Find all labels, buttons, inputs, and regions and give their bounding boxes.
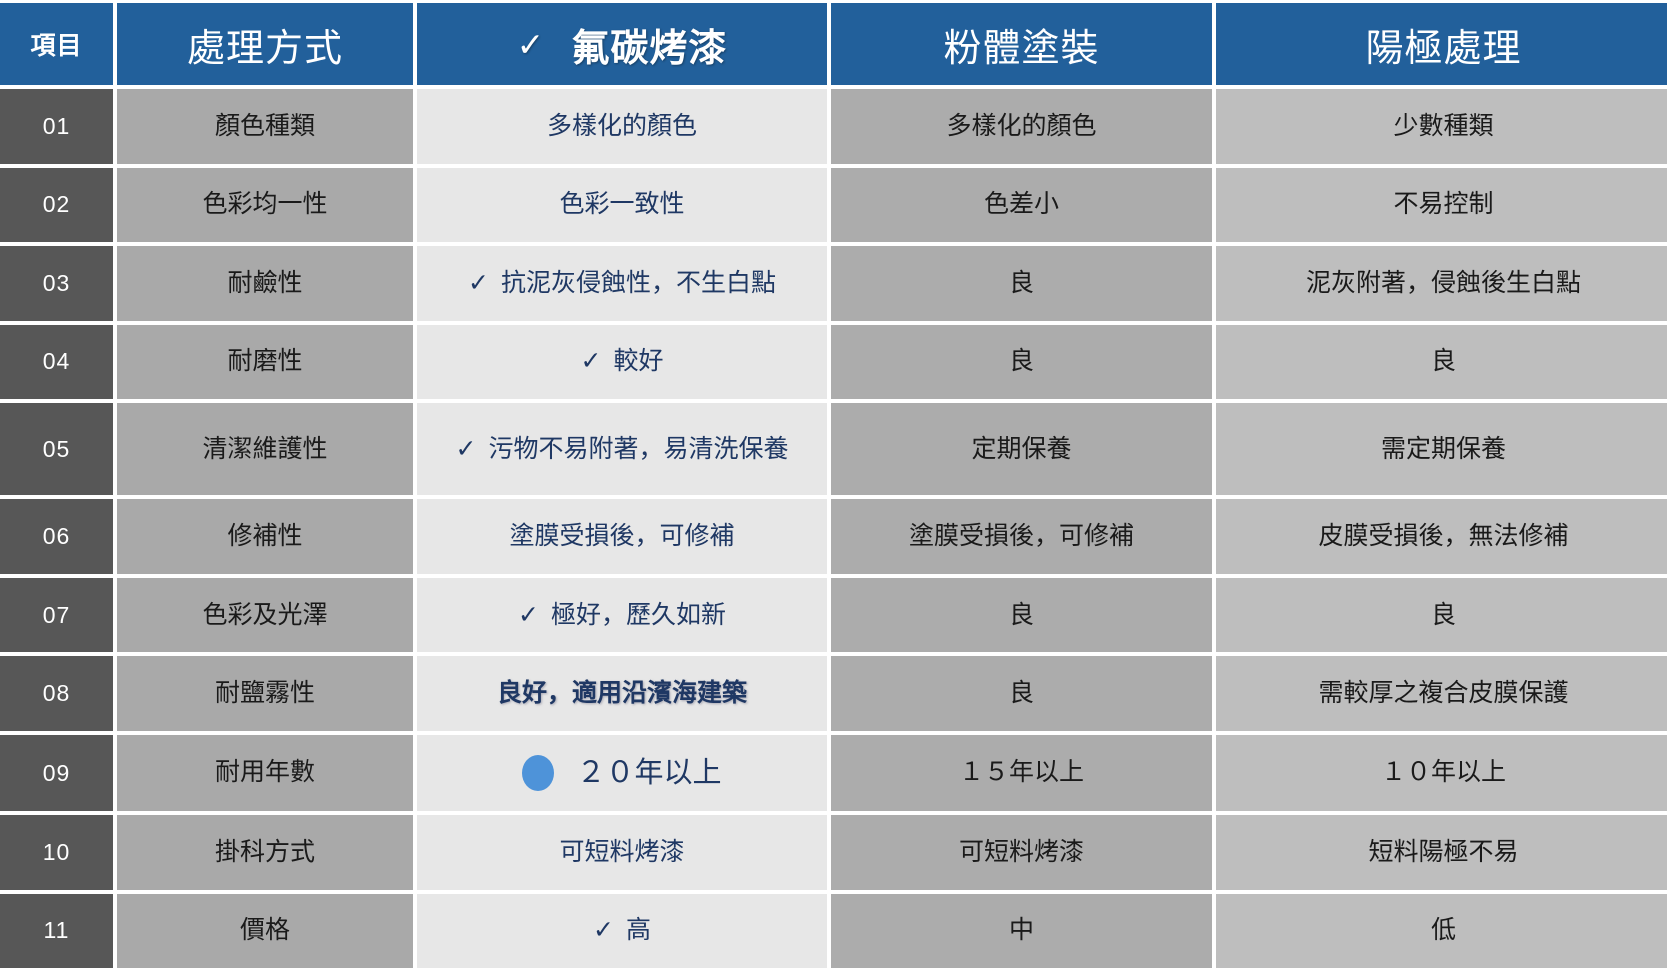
- row-powder-cell: 中: [831, 894, 1212, 968]
- row-index-cell: 08: [0, 656, 113, 731]
- row-powder-cell: 定期保養: [831, 403, 1212, 495]
- cell-text: 抗泥灰侵蝕性，不生白點: [501, 268, 776, 299]
- check-icon: ✓: [468, 268, 489, 299]
- table-row: 05清潔維護性✓污物不易附著，易清洗保養定期保養需定期保養: [0, 403, 1667, 495]
- row-attribute-cell: 修補性: [117, 499, 413, 574]
- table-row: 10掛科方式可短料烤漆可短料烤漆短料陽極不易: [0, 815, 1667, 890]
- row-attribute-cell: 耐鹼性: [117, 246, 413, 321]
- cell-content: ✓污物不易附著，易清洗保養: [456, 434, 789, 465]
- row-powder-cell: 色差小: [831, 168, 1212, 243]
- row-fluorocarbon-cell: 多樣化的顏色: [417, 89, 827, 164]
- cell-text: 極好，歷久如新: [551, 600, 726, 631]
- bullet-circle-icon: [522, 755, 554, 791]
- row-fluorocarbon-cell: 塗膜受損後，可修補: [417, 499, 827, 574]
- row-index-cell: 02: [0, 168, 113, 243]
- row-fluorocarbon-cell: ✓抗泥灰侵蝕性，不生白點: [417, 246, 827, 321]
- cell-content: 色彩一致性: [559, 189, 684, 220]
- row-attribute-cell: 色彩均一性: [117, 168, 413, 243]
- row-fluorocarbon-cell: ✓極好，歷久如新: [417, 578, 827, 653]
- row-fluorocarbon-cell: 可短料烤漆: [417, 815, 827, 890]
- row-powder-cell: １５年以上: [831, 735, 1212, 811]
- row-fluorocarbon-cell: ✓較好: [417, 325, 827, 400]
- table-body: 01顏色種類多樣化的顏色多樣化的顏色少數種類02色彩均一性色彩一致性色差小不易控…: [0, 85, 1667, 968]
- cell-content: 塗膜受損後，可修補: [509, 521, 734, 552]
- row-anodize-cell: 需定期保養: [1216, 403, 1667, 495]
- row-fluorocarbon-cell: ２０年以上: [417, 735, 827, 811]
- check-icon: ✓: [456, 434, 477, 465]
- check-icon: ✓: [517, 25, 546, 64]
- row-powder-cell: 良: [831, 246, 1212, 321]
- table-row: 09耐用年數２０年以上１５年以上１０年以上: [0, 735, 1667, 811]
- row-index-cell: 01: [0, 89, 113, 164]
- row-anodize-cell: 良: [1216, 325, 1667, 400]
- cell-content: 良好，適用沿濱海建築: [497, 678, 747, 709]
- cell-text: 可短料烤漆: [559, 837, 684, 868]
- row-attribute-cell: 價格: [117, 894, 413, 968]
- header-cell-fluorocarbon: ✓ 氟碳烤漆: [417, 3, 827, 85]
- row-index-cell: 06: [0, 499, 113, 574]
- cell-content: ✓高: [593, 915, 651, 946]
- row-index-cell: 04: [0, 325, 113, 400]
- header-index-label: 項目: [30, 26, 82, 62]
- cell-content: 可短料烤漆: [559, 837, 684, 868]
- check-icon: ✓: [581, 346, 602, 377]
- table-row: 02色彩均一性色彩一致性色差小不易控制: [0, 168, 1667, 243]
- row-anodize-cell: １０年以上: [1216, 735, 1667, 811]
- row-anodize-cell: 短料陽極不易: [1216, 815, 1667, 890]
- row-anodize-cell: 皮膜受損後，無法修補: [1216, 499, 1667, 574]
- cell-text: 較好: [613, 346, 663, 377]
- row-fluorocarbon-cell: 色彩一致性: [417, 168, 827, 243]
- table-row: 01顏色種類多樣化的顏色多樣化的顏色少數種類: [0, 89, 1667, 164]
- table-row: 06修補性塗膜受損後，可修補塗膜受損後，可修補皮膜受損後，無法修補: [0, 499, 1667, 574]
- row-powder-cell: 良: [831, 578, 1212, 653]
- cell-content: ✓抗泥灰侵蝕性，不生白點: [468, 268, 776, 299]
- row-attribute-cell: 耐鹽霧性: [117, 656, 413, 731]
- header-cell-attribute: 處理方式: [117, 3, 413, 85]
- row-attribute-cell: 顏色種類: [117, 89, 413, 164]
- table-row: 04耐磨性✓較好良良: [0, 325, 1667, 400]
- row-fluorocarbon-cell: ✓污物不易附著，易清洗保養: [417, 403, 827, 495]
- row-powder-cell: 塗膜受損後，可修補: [831, 499, 1212, 574]
- cell-content: 多樣化的顏色: [547, 111, 697, 142]
- row-anodize-cell: 少數種類: [1216, 89, 1667, 164]
- row-attribute-cell: 耐用年數: [117, 735, 413, 811]
- cell-text: 高: [626, 915, 651, 946]
- header-cell-anodize: 陽極處理: [1216, 3, 1667, 85]
- table-row: 07色彩及光澤✓極好，歷久如新良良: [0, 578, 1667, 653]
- check-icon: ✓: [518, 600, 539, 631]
- cell-text: 塗膜受損後，可修補: [509, 521, 734, 552]
- row-powder-cell: 可短料烤漆: [831, 815, 1212, 890]
- cell-content: ２０年以上: [522, 755, 721, 791]
- cell-text: 污物不易附著，易清洗保養: [488, 434, 788, 465]
- header-fluorocarbon-label: 氟碳烤漆: [571, 17, 727, 72]
- row-powder-cell: 良: [831, 325, 1212, 400]
- table-row: 11價格✓高中低: [0, 894, 1667, 968]
- row-fluorocarbon-cell: ✓高: [417, 894, 827, 968]
- row-attribute-cell: 色彩及光澤: [117, 578, 413, 653]
- treatment-comparison-table: 項目 處理方式 ✓ 氟碳烤漆 粉體塗裝 陽極處理 01顏色種類多樣化的顏色多樣化…: [0, 0, 1667, 968]
- cell-text: 色彩一致性: [559, 189, 684, 220]
- row-anodize-cell: 良: [1216, 578, 1667, 653]
- row-attribute-cell: 清潔維護性: [117, 403, 413, 495]
- row-anodize-cell: 低: [1216, 894, 1667, 968]
- row-attribute-cell: 耐磨性: [117, 325, 413, 400]
- cell-content: ✓極好，歷久如新: [518, 600, 726, 631]
- table-header-row: 項目 處理方式 ✓ 氟碳烤漆 粉體塗裝 陽極處理: [0, 0, 1667, 85]
- row-powder-cell: 良: [831, 656, 1212, 731]
- table-row: 08耐鹽霧性良好，適用沿濱海建築良需較厚之複合皮膜保護: [0, 656, 1667, 731]
- header-cell-index: 項目: [0, 3, 113, 85]
- cell-text: 多樣化的顏色: [547, 111, 697, 142]
- row-index-cell: 11: [0, 894, 113, 968]
- row-powder-cell: 多樣化的顏色: [831, 89, 1212, 164]
- row-index-cell: 03: [0, 246, 113, 321]
- row-anodize-cell: 需較厚之複合皮膜保護: [1216, 656, 1667, 731]
- row-index-cell: 07: [0, 578, 113, 653]
- row-attribute-cell: 掛科方式: [117, 815, 413, 890]
- row-index-cell: 05: [0, 403, 113, 495]
- row-anodize-cell: 不易控制: [1216, 168, 1667, 243]
- header-attribute-label: 處理方式: [187, 17, 343, 72]
- header-anodize-label: 陽極處理: [1365, 17, 1521, 72]
- row-index-cell: 10: [0, 815, 113, 890]
- cell-text: 良好，適用沿濱海建築: [497, 678, 747, 709]
- cell-content: ✓較好: [581, 346, 664, 377]
- row-fluorocarbon-cell: 良好，適用沿濱海建築: [417, 656, 827, 731]
- cell-text: ２０年以上: [576, 755, 721, 791]
- row-index-cell: 09: [0, 735, 113, 811]
- table-row: 03耐鹼性✓抗泥灰侵蝕性，不生白點良泥灰附著，侵蝕後生白點: [0, 246, 1667, 321]
- check-icon: ✓: [593, 915, 614, 946]
- row-anodize-cell: 泥灰附著，侵蝕後生白點: [1216, 246, 1667, 321]
- header-cell-powder: 粉體塗裝: [831, 3, 1212, 85]
- header-powder-label: 粉體塗裝: [943, 17, 1099, 72]
